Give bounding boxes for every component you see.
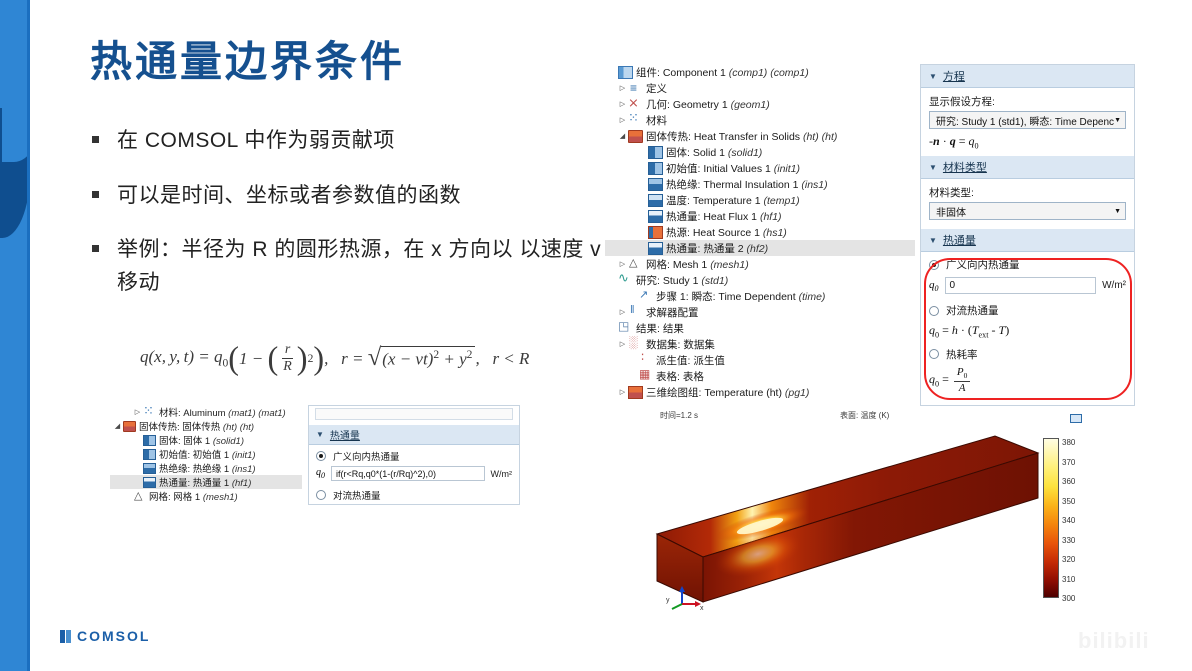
tree-row[interactable]: 派生值: 派生值: [605, 352, 915, 368]
material-type-select[interactable]: 非固体 ▼: [929, 202, 1126, 220]
tree-row[interactable]: 热通量: Heat Flux 1 (hf1): [605, 208, 915, 224]
collapse-triangle-icon: ▼: [316, 430, 324, 439]
tree-row[interactable]: 组件: Component 1 (comp1) (comp1): [605, 64, 915, 80]
beam-3d-surface: y x: [640, 426, 1050, 611]
tree-row-label: 网格: Mesh 1 (mesh1): [646, 257, 749, 272]
radio-label: 广义向内热通量: [946, 257, 1020, 272]
radio-icon: [929, 306, 939, 316]
tree-row-tag: (temp1): [763, 195, 799, 207]
radio-label: 对流热通量: [333, 488, 381, 502]
model-builder-tree[interactable]: 组件: Component 1 (comp1) (comp1)▷定义 ▷几何: …: [605, 64, 915, 406]
heat-transfer-icon: [123, 421, 136, 432]
list-item: 在 COMSOL 中作为弱贡献项: [92, 125, 602, 158]
tree-row-label: 数据集: 数据集: [646, 337, 715, 352]
tree-row-tag: (mesh1): [203, 492, 238, 503]
colorbar-tick-label: 340: [1062, 516, 1075, 525]
svg-text:x: x: [700, 605, 704, 611]
inset-section-header-heat-flux[interactable]: ▼ 热通量: [309, 425, 519, 445]
table-icon: [638, 370, 653, 383]
colorbar-tick-label: 360: [1062, 477, 1075, 486]
chevron-down-icon: ▼: [1114, 208, 1121, 215]
svg-text:y: y: [666, 597, 670, 604]
colorbar-tick-label: 300: [1062, 594, 1075, 603]
tree-row[interactable]: ▷几何: Geometry 1 (geom1): [605, 96, 915, 112]
thermal-insulation-icon: [648, 178, 663, 191]
tree-row-tag: (mesh1): [710, 259, 749, 271]
heat-source-icon: [648, 226, 663, 239]
tree-row-label: 表格: 表格: [656, 369, 704, 384]
radio-icon: [929, 260, 939, 270]
derived-values-icon: [638, 354, 653, 367]
decorative-stripe: [0, 0, 30, 671]
comsol-logo-mark-icon: [60, 630, 71, 643]
expand-arrow-closed-icon[interactable]: ▷: [617, 260, 628, 268]
q0-input-row: q0 0 W/m²: [921, 275, 1134, 298]
slide-root: 热通量边界条件 在 COMSOL 中作为弱贡献项 可以是时间、坐标或者参数值的函…: [0, 0, 1192, 671]
tree-row[interactable]: 热通量: 热通量 1 (hf1): [110, 475, 302, 489]
tree-row-tag: (init1): [232, 450, 256, 461]
component-icon: [618, 66, 633, 79]
tree-row-tag: (std1): [701, 275, 728, 287]
solid-icon: [143, 435, 156, 446]
tree-row[interactable]: 结果: 结果: [605, 320, 915, 336]
tree-row[interactable]: ◢固体传热: 固体传热 (ht) (ht): [110, 419, 302, 433]
bullet-marker-icon: [92, 191, 99, 198]
settings-panel: ▼ 方程 显示假设方程: 研究: Study 1 (std1), 瞬态: Tim…: [920, 64, 1135, 406]
radio-heat-rate[interactable]: 热耗率: [921, 342, 1134, 365]
tree-row-tag: (ht) (ht): [803, 131, 837, 143]
tree-row-label: 热绝缘: 热绝缘 1 (ins1): [159, 461, 256, 475]
heat-flux-icon: [143, 477, 156, 488]
initial-values-icon: [648, 162, 663, 175]
inset-partial-field: [315, 408, 513, 420]
bullet-text: 举例：半径为 R 的圆形热源，在 x 方向以 以速度 v 移动: [117, 234, 602, 299]
radio-icon: [316, 490, 326, 500]
definitions-icon: [628, 82, 643, 95]
colorbar-tick-label: 310: [1062, 575, 1075, 584]
tree-row-label: 研究: Study 1 (std1): [636, 273, 728, 288]
solver-icon: [628, 306, 643, 319]
tree-row-label: 固体: 固体 1 (solid1): [159, 433, 244, 447]
expand-arrow-closed-icon[interactable]: ▷: [617, 388, 628, 396]
equation-field-label: 显示假设方程:: [921, 88, 1134, 111]
tree-row-tag: (time): [799, 291, 826, 303]
chevron-down-icon: ▼: [1114, 117, 1121, 124]
study-icon: [618, 274, 633, 287]
comsol-logo: COMSOL: [60, 628, 150, 644]
collapse-triangle-icon: ▼: [929, 163, 937, 172]
tree-row-tag: (pg1): [785, 387, 810, 399]
tree-row[interactable]: 热绝缘: 热绝缘 1 (ins1): [110, 461, 302, 475]
radio-icon: [929, 349, 939, 359]
section-title: 方程: [943, 68, 965, 84]
tree-row-label: 材料: Aluminum (mat1) (mat1): [159, 405, 286, 419]
tree-row[interactable]: ▷三维绘图组: Temperature (ht) (pg1): [605, 384, 915, 400]
tree-row-label: 组件: Component 1 (comp1) (comp1): [636, 65, 809, 80]
equation-study-select[interactable]: 研究: Study 1 (std1), 瞬态: Time Depenc ▼: [929, 111, 1126, 129]
tree-row-label: 固体传热: 固体传热 (ht) (ht): [139, 419, 254, 433]
tree-row[interactable]: 热源: Heat Source 1 (hs1): [605, 224, 915, 240]
expand-arrow-open-icon[interactable]: ◢: [617, 132, 628, 140]
colorbar-ticks: 380370360350340330320310300: [1062, 434, 1102, 604]
tree-row[interactable]: 表格: 表格: [605, 368, 915, 384]
page-title: 热通量边界条件: [90, 28, 405, 89]
tree-row[interactable]: 步骤 1: 瞬态: Time Dependent (time): [605, 288, 915, 304]
section-header-material-type[interactable]: ▼ 材料类型: [921, 156, 1134, 179]
plot-surface-title: 表面: 温度 (K): [840, 410, 889, 421]
radio-convective-heat-flux[interactable]: 对流热通量: [921, 298, 1134, 321]
tree-row[interactable]: 初始值: Initial Values 1 (init1): [605, 160, 915, 176]
tree-row-tag: (ins1): [232, 464, 256, 475]
inset-model-tree[interactable]: ▷材料: Aluminum (mat1) (mat1)◢固体传热: 固体传热 (…: [110, 405, 302, 505]
tree-row-label: 固体传热: Heat Transfer in Solids (ht) (ht): [646, 129, 837, 144]
mesh-icon: [133, 491, 146, 502]
tree-row-tag: (comp1) (comp1): [729, 67, 809, 79]
tree-row-label: 网格: 网格 1 (mesh1): [149, 489, 238, 503]
tree-row[interactable]: 网格: 网格 1 (mesh1): [110, 489, 302, 503]
section-title: 热通量: [943, 232, 976, 248]
solid-icon: [648, 146, 663, 159]
section-title: 材料类型: [943, 159, 987, 175]
radio-general-inward-heat-flux[interactable]: 广义向内热通量: [921, 252, 1134, 275]
section-header-heat-flux[interactable]: ▼ 热通量: [921, 229, 1134, 252]
bullet-text: 可以是时间、坐标或者参数值的函数: [117, 180, 461, 213]
tree-row-label: 热源: Heat Source 1 (hs1): [666, 225, 787, 240]
plot-group-icon: [628, 386, 643, 399]
q0-input[interactable]: 0: [945, 277, 1097, 294]
radio-icon: [316, 451, 326, 461]
list-item: 举例：半径为 R 的圆形热源，在 x 方向以 以速度 v 移动: [92, 234, 602, 299]
tree-row[interactable]: ◢固体传热: Heat Transfer in Solids (ht) (ht): [605, 128, 915, 144]
expand-arrow-closed-icon[interactable]: ▷: [617, 84, 628, 92]
tree-row[interactable]: 初始值: 初始值 1 (init1): [110, 447, 302, 461]
tree-row-tag: (ins1): [801, 179, 827, 191]
comsol-logo-text: COMSOL: [77, 628, 150, 644]
q0-label: q0: [929, 279, 939, 293]
initial-values-icon: [143, 449, 156, 460]
tree-row-label: 初始值: Initial Values 1 (init1): [666, 161, 800, 176]
tree-row-label: 三维绘图组: Temperature (ht) (pg1): [646, 385, 809, 400]
tree-row-label: 热通量: 热通量 2 (hf2): [666, 241, 768, 256]
mesh-icon: [628, 258, 643, 271]
tree-row-label: 热通量: Heat Flux 1 (hf1): [666, 209, 782, 224]
step-icon: [638, 290, 653, 303]
tree-row-label: 温度: Temperature 1 (temp1): [666, 193, 800, 208]
inset-radio-convective-heat-flux[interactable]: 对流热通量: [309, 484, 519, 504]
expand-arrow-closed-icon[interactable]: ▷: [617, 100, 628, 108]
tree-row-tag: (mat1) (mat1): [228, 408, 286, 419]
tree-row-label: 材料: [646, 113, 667, 128]
tree-row[interactable]: ▷定义: [605, 80, 915, 96]
stripe-edge: [27, 0, 30, 671]
equation-display: -n · q = q0: [921, 129, 1134, 156]
stripe-wave-light: [2, 92, 30, 162]
tree-row[interactable]: 研究: Study 1 (std1): [605, 272, 915, 288]
section-title: 热通量: [330, 427, 360, 442]
tree-row[interactable]: ▷数据集: 数据集: [605, 336, 915, 352]
temperature-icon: [648, 194, 663, 207]
tree-row-tag: (hf2): [747, 243, 769, 255]
bullet-marker-icon: [92, 245, 99, 252]
inset-q0-input[interactable]: if(r<Rq,q0*(1-(r/Rq)^2),0): [331, 466, 485, 481]
inset-settings-panel: ▼ 热通量 广义向内热通量 q0 if(r<Rq,q0*(1-(r/Rq)^2)…: [308, 405, 520, 505]
bullet-marker-icon: [92, 136, 99, 143]
colorbar-tick-label: 370: [1062, 458, 1075, 467]
inset-screenshot: ▷材料: Aluminum (mat1) (mat1)◢固体传热: 固体传热 (…: [110, 405, 520, 505]
collapse-triangle-icon: ▼: [929, 236, 937, 245]
tree-row-tag: (hf1): [232, 478, 252, 489]
tree-row-label: 求解器配置: [646, 305, 699, 320]
equation-study-value: 研究: Study 1 (std1), 瞬态: Time Depenc: [936, 113, 1114, 128]
tree-row[interactable]: ▷材料: [605, 112, 915, 128]
material-type-label: 材料类型:: [921, 179, 1134, 202]
heat-flux-icon: [648, 210, 663, 223]
inset-q0-input-row: q0 if(r<Rq,q0*(1-(r/Rq)^2),0) W/m²: [309, 465, 519, 484]
radio-label: 对流热通量: [946, 303, 999, 318]
tree-row[interactable]: ▷求解器配置: [605, 304, 915, 320]
q0-unit: W/m²: [1102, 280, 1126, 291]
result-plot[interactable]: 时间=1.2 s 表面: 温度 (K): [640, 408, 1092, 623]
tree-row[interactable]: 温度: Temperature 1 (temp1): [605, 192, 915, 208]
expand-arrow-closed-icon[interactable]: ▷: [617, 308, 628, 316]
tree-row[interactable]: 热通量: 热通量 2 (hf2): [605, 240, 915, 256]
tree-row-label: 派生值: 派生值: [656, 353, 725, 368]
bullet-text: 在 COMSOL 中作为弱贡献项: [117, 125, 395, 158]
q0-unit: W/m²: [491, 469, 513, 479]
heat-rate-equation: q0 = P0A: [921, 365, 1134, 395]
plot-time-annotation: 时间=1.2 s: [660, 410, 698, 421]
bullet-list: 在 COMSOL 中作为弱贡献项 可以是时间、坐标或者参数值的函数 举例：半径为…: [92, 125, 602, 321]
tree-row-label: 热通量: 热通量 1 (hf1): [159, 475, 251, 489]
tree-row-tag: (hs1): [763, 227, 787, 239]
tree-row-label: 热绝缘: Thermal Insulation 1 (ins1): [666, 177, 828, 192]
expand-arrow-closed-icon[interactable]: ▷: [617, 116, 628, 124]
tree-row[interactable]: 热绝缘: Thermal Insulation 1 (ins1): [605, 176, 915, 192]
tree-row-tag: (ht) (ht): [223, 422, 254, 433]
collapse-triangle-icon: ▼: [929, 72, 937, 81]
plot-header: 时间=1.2 s 表面: 温度 (K): [640, 408, 1092, 424]
bilibili-watermark: bilibili: [1078, 628, 1150, 654]
colorbar-tick-label: 320: [1062, 555, 1075, 564]
expand-arrow-closed-icon[interactable]: ▷: [617, 340, 628, 348]
tree-row-label: 几何: Geometry 1 (geom1): [646, 97, 770, 112]
radio-label: 广义向内热通量: [333, 449, 400, 463]
tree-row-tag: (solid1): [213, 436, 244, 447]
convective-equation: q0 = h · (Text - T): [921, 321, 1134, 341]
heat-flux-icon: [648, 242, 663, 255]
colorbar-tick-label: 380: [1062, 438, 1075, 447]
materials-icon: [143, 407, 156, 418]
thermal-insulation-icon: [143, 463, 156, 474]
materials-icon: [628, 114, 643, 127]
tree-row-label: 定义: [646, 81, 667, 96]
list-item: 可以是时间、坐标或者参数值的函数: [92, 180, 602, 213]
tree-row[interactable]: ▷材料: Aluminum (mat1) (mat1): [110, 405, 302, 419]
tree-row-tag: (geom1): [731, 99, 770, 111]
tree-row-label: 结果: 结果: [636, 321, 684, 336]
heat-flux-formula: q(x, y, t) = q0 ( 1 − ( rR )2 ) , r = √(…: [140, 342, 529, 375]
tree-row-tag: (init1): [774, 163, 800, 175]
tree-row-tag: (solid1): [728, 147, 762, 159]
q0-label: q0: [316, 467, 325, 480]
tree-row[interactable]: ▷网格: Mesh 1 (mesh1): [605, 256, 915, 272]
heat-transfer-icon: [628, 130, 643, 143]
tree-row[interactable]: 固体: 固体 1 (solid1): [110, 433, 302, 447]
tree-row[interactable]: 固体: Solid 1 (solid1): [605, 144, 915, 160]
radio-label: 热耗率: [946, 347, 978, 362]
results-icon: [618, 322, 633, 335]
colorbar-tick-label: 330: [1062, 536, 1075, 545]
tree-row-label: 固体: Solid 1 (solid1): [666, 145, 762, 160]
material-type-value: 非固体: [936, 204, 966, 219]
tree-row-tag: (hf1): [760, 211, 782, 223]
plot-window-icon[interactable]: [1070, 414, 1082, 423]
expand-arrow-closed-icon[interactable]: ▷: [132, 408, 143, 416]
tree-row-label: 步骤 1: 瞬态: Time Dependent (time): [656, 289, 825, 304]
section-header-equation[interactable]: ▼ 方程: [921, 65, 1134, 88]
colorbar: [1043, 438, 1059, 598]
expand-arrow-open-icon[interactable]: ◢: [112, 422, 123, 430]
tree-row-label: 初始值: 初始值 1 (init1): [159, 447, 256, 461]
inset-radio-general-inward-heat-flux[interactable]: 广义向内热通量: [309, 445, 519, 465]
colorbar-tick-label: 350: [1062, 497, 1075, 506]
